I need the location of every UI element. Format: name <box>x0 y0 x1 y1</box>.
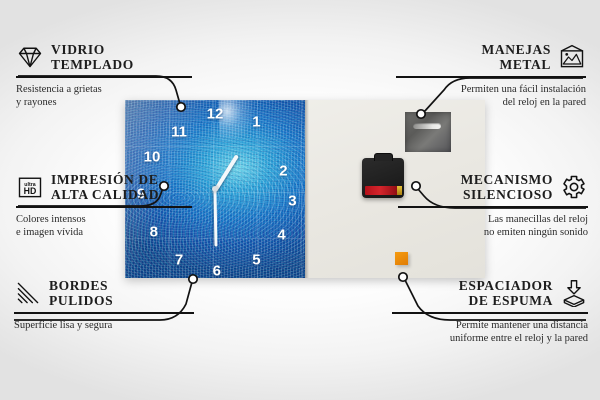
ultra-hd-icon: ultra HD <box>16 173 44 201</box>
feature-title-line2: TEMPLADO <box>51 57 134 72</box>
feature-title-line2: METAL <box>482 57 551 72</box>
battery <box>365 186 398 195</box>
clock-numeral-5: 5 <box>252 253 260 268</box>
feature-desc-line2: del reloj en la pared <box>396 96 586 109</box>
feature-rule <box>16 206 192 208</box>
feature-title-line1: BORDES <box>49 278 113 293</box>
feature-rule <box>14 312 194 314</box>
clock-numeral-6: 6 <box>213 263 221 278</box>
minute-hand <box>214 190 218 246</box>
feature-rule <box>392 312 588 314</box>
feature-desc-line1: Permiten una fácil instalación <box>396 83 586 96</box>
feature-desc-line2: no emiten ningún sonido <box>398 226 588 239</box>
feature-vidrio-templado: VIDRIO TEMPLADO Resistencia a grietas y … <box>16 42 192 109</box>
diamond-icon <box>16 43 44 71</box>
hour-hand <box>213 154 239 192</box>
orange-foam-spacer <box>395 252 408 265</box>
hands-hub <box>212 186 218 192</box>
feature-impresion-alta-calidad: ultra HD IMPRESIÓN DE ALTA CALIDAD Color… <box>16 172 192 239</box>
clock-numeral-2: 2 <box>279 164 287 179</box>
feature-desc-line2: y rayones <box>16 96 192 109</box>
feature-title-line1: VIDRIO <box>51 42 134 57</box>
infographic-canvas: 12 1 2 3 4 5 6 7 8 9 10 11 <box>0 0 600 400</box>
clock-numeral-11: 11 <box>171 125 187 140</box>
feature-title-line1: MANEJAS <box>482 42 551 57</box>
feature-title-line2: PULIDOS <box>49 293 113 308</box>
hanger-keyhole-slot <box>413 123 441 129</box>
feature-desc-line1: Resistencia a grietas <box>16 83 192 96</box>
clock-numeral-3: 3 <box>288 194 296 209</box>
feature-title-line2: SILENCIOSO <box>461 187 553 202</box>
feature-desc-line2: uniforme entre el reloj y la pared <box>392 332 588 345</box>
clock-numeral-4: 4 <box>277 228 285 243</box>
gear-icon <box>560 173 588 201</box>
feature-desc-line2: e imagen vívida <box>16 226 192 239</box>
picture-frame-icon <box>558 43 586 71</box>
metal-hanger-plate <box>405 112 451 152</box>
clock-numeral-12: 12 <box>207 107 224 122</box>
feature-desc-line1: Permite mantener una distancia <box>392 319 588 332</box>
clock-numeral-1: 1 <box>252 115 260 130</box>
feature-title-line1: MECANISMO <box>461 172 553 187</box>
polished-edge-icon <box>14 279 42 307</box>
feature-espaciador-espuma: ESPACIADOR DE ESPUMA Permite mantener un… <box>392 278 588 345</box>
feature-desc-line1: Colores intensos <box>16 213 192 226</box>
clock-numeral-10: 10 <box>144 149 161 164</box>
foam-spacer-icon <box>560 279 588 307</box>
feature-bordes-pulidos: BORDES PULIDOS Superficie lisa y segura <box>14 278 194 332</box>
feature-mecanismo-silencioso: MECANISMO SILENCIOSO Las manecillas del … <box>398 172 588 239</box>
feature-title-line1: ESPACIADOR <box>459 278 553 293</box>
feature-rule <box>16 76 192 78</box>
feature-desc-line1: Superficie lisa y segura <box>14 319 194 332</box>
feature-title-line1: IMPRESIÓN DE <box>51 172 159 187</box>
feature-desc-line1: Las manecillas del reloj <box>398 213 588 226</box>
feature-title-line2: ALTA CALIDAD <box>51 187 159 202</box>
feature-rule <box>396 76 586 78</box>
clock-numeral-7: 7 <box>175 253 183 268</box>
movement-hanger-tab <box>374 153 393 161</box>
feature-title-line2: DE ESPUMA <box>459 293 553 308</box>
glass-shine <box>219 100 302 185</box>
feature-rule <box>398 206 588 208</box>
ultra-hd-icon-text-bottom: HD <box>24 186 37 196</box>
feature-manejas-metal: MANEJAS METAL Permiten una fácil instala… <box>396 42 586 109</box>
